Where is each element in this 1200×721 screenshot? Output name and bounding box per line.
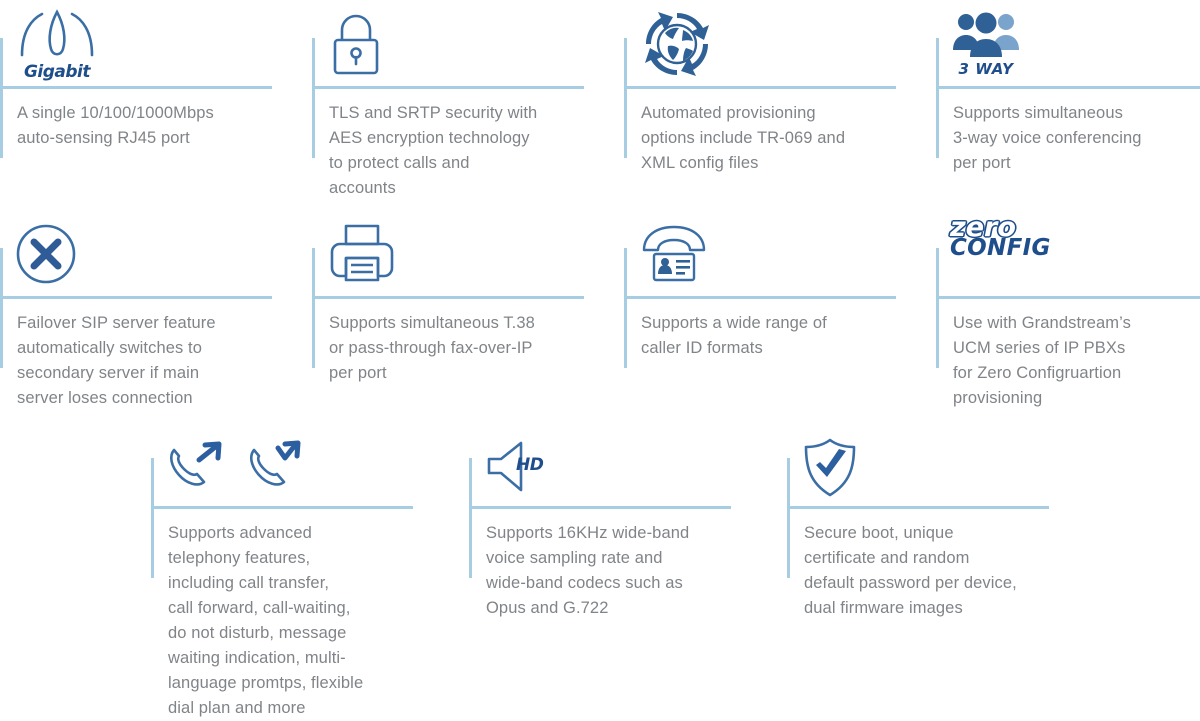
- feature-text: Supports advanced telephony features, in…: [168, 521, 433, 721]
- globe-sync-icon: [638, 5, 716, 83]
- vertical-rule: [624, 38, 627, 158]
- hd-speaker-icon: HD: [483, 440, 561, 496]
- feature-card-caller-id-formats: Supports a wide range of caller ID forma…: [624, 210, 924, 420]
- feature-text: Failover SIP server feature automaticall…: [17, 311, 292, 411]
- horizontal-rule: [787, 506, 1049, 509]
- feature-text: Use with Grandstream’s UCM series of IP …: [953, 311, 1200, 411]
- feature-text: Supports simultaneous T.38 or pass-throu…: [329, 311, 601, 386]
- icon-container: 3 WAY: [950, 0, 1022, 88]
- vertical-rule: [469, 458, 472, 578]
- padlock-icon: [326, 10, 386, 78]
- vertical-rule: [312, 38, 315, 158]
- three-way-label: 3 WAY: [959, 60, 1014, 78]
- gigabit-glyph: [14, 9, 100, 61]
- icon-container: [326, 210, 398, 298]
- feature-text: Secure boot, unique certificate and rand…: [804, 521, 1079, 621]
- icon-container: zero CONFIG: [950, 216, 1051, 296]
- icon-container: HD: [483, 430, 561, 506]
- icon-container: [801, 430, 859, 506]
- feature-card-hd-wideband-audio: HD Supports 16KHz wide-band voice sampli…: [469, 430, 769, 630]
- feature-card-automated-provisioning: Automated provisioning options include T…: [624, 0, 924, 200]
- vertical-rule: [624, 248, 627, 368]
- three-users-glyph: [950, 10, 1022, 62]
- feature-card-zero-config: zero CONFIG Use with Grandstream’s UCM s…: [936, 210, 1200, 420]
- call-forward-icon: [245, 440, 307, 496]
- horizontal-rule: [936, 296, 1200, 299]
- feature-grid: Gigabit A single 10/100/1000Mbps auto-se…: [0, 0, 1200, 687]
- icon-container: [165, 430, 307, 506]
- hd-label: HD: [516, 455, 543, 475]
- gigabit-label: Gigabit: [24, 62, 90, 82]
- feature-card-gigabit-port: Gigabit A single 10/100/1000Mbps auto-se…: [0, 0, 300, 200]
- horizontal-rule: [151, 506, 413, 509]
- x-circle-icon: [14, 222, 78, 286]
- shield-check-icon: [801, 437, 859, 499]
- icon-container: [638, 0, 716, 88]
- vertical-rule: [151, 458, 154, 578]
- icon-container: [14, 210, 78, 298]
- vertical-rule: [936, 38, 939, 158]
- feature-text: A single 10/100/1000Mbps auto-sensing RJ…: [17, 101, 282, 151]
- icon-container: [326, 0, 386, 88]
- caller-id-icon: [638, 224, 710, 284]
- config-label: CONFIG: [950, 239, 1051, 259]
- feature-text: Automated provisioning options include T…: [641, 101, 913, 176]
- feature-text: TLS and SRTP security with AES encryptio…: [329, 101, 601, 201]
- vertical-rule: [312, 248, 315, 368]
- feature-card-tls-srtp-security: TLS and SRTP security with AES encryptio…: [312, 0, 612, 200]
- gigabit-icon: Gigabit: [14, 7, 100, 82]
- feature-text: Supports 16KHz wide-band voice sampling …: [486, 521, 751, 621]
- vertical-rule: [936, 248, 939, 368]
- feature-card-failover-sip-server: Failover SIP server feature automaticall…: [0, 210, 300, 420]
- three-users-icon: 3 WAY: [950, 10, 1022, 78]
- icon-container: [638, 210, 710, 298]
- feature-card-fax-over-ip: Supports simultaneous T.38 or pass-throu…: [312, 210, 612, 420]
- printer-fax-icon: [326, 222, 398, 286]
- vertical-rule: [0, 248, 3, 368]
- feature-card-three-way-conferencing: 3 WAY Supports simultaneous 3-way voice …: [936, 0, 1200, 200]
- call-transfer-out-icon: [165, 440, 227, 496]
- feature-card-advanced-telephony: Supports advanced telephony features, in…: [151, 430, 451, 687]
- horizontal-rule: [469, 506, 731, 509]
- zero-config-icon: zero CONFIG: [950, 216, 1051, 259]
- feature-card-secure-boot: Secure boot, unique certificate and rand…: [787, 430, 1087, 630]
- vertical-rule: [787, 458, 790, 578]
- vertical-rule: [0, 38, 3, 158]
- feature-text: Supports a wide range of caller ID forma…: [641, 311, 913, 361]
- feature-text: Supports simultaneous 3-way voice confer…: [953, 101, 1200, 176]
- icon-container: Gigabit: [14, 0, 100, 88]
